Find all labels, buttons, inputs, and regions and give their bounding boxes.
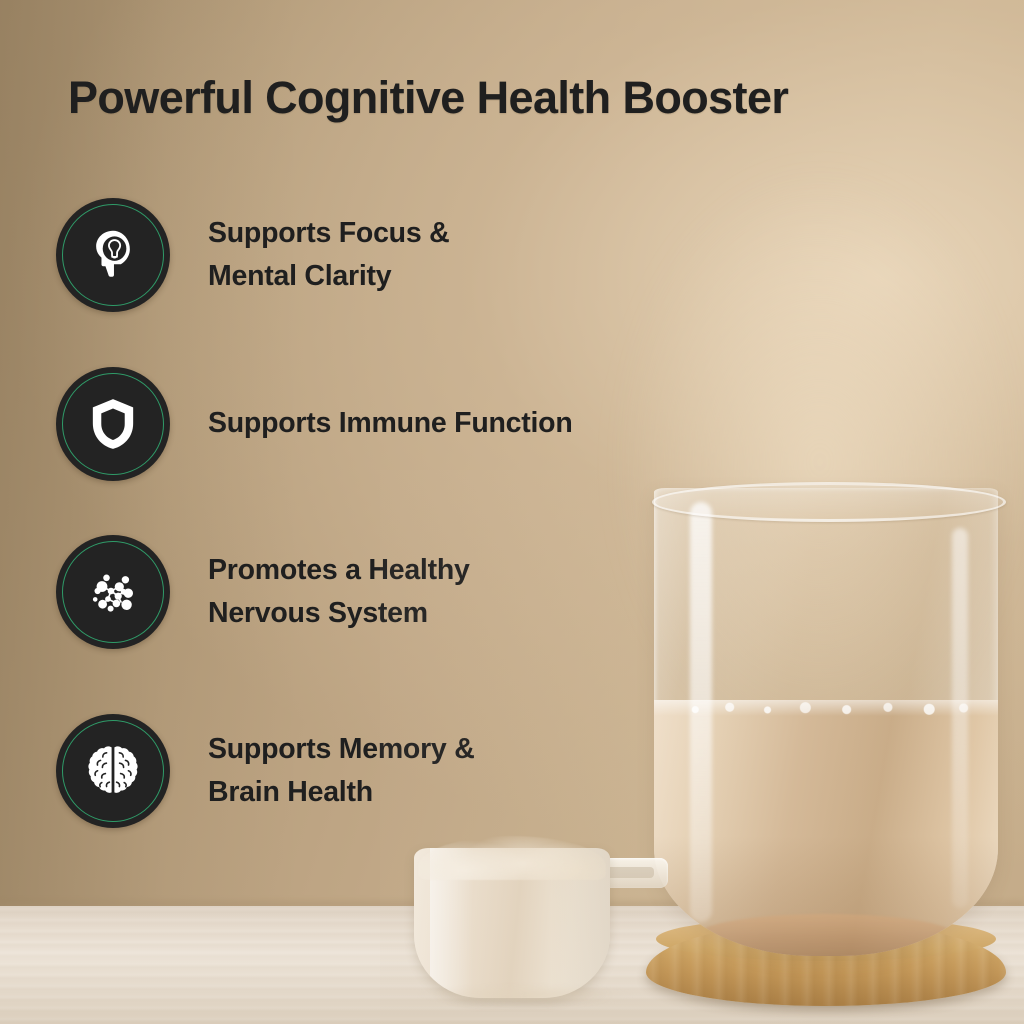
glass-highlight-left xyxy=(690,502,712,922)
page-title: Powerful Cognitive Health Booster xyxy=(68,74,978,123)
head-lightbulb-icon xyxy=(82,224,144,286)
spilled-powder-dust xyxy=(400,986,650,1008)
brain-icon xyxy=(81,739,145,803)
benefit-item-nervous-system: Promotes a Healthy Nervous System xyxy=(56,535,470,649)
product-benefits-graphic: Powerful Cognitive Health Booster Suppor… xyxy=(0,0,1024,1024)
shield-icon xyxy=(83,394,143,454)
benefit-item-focus: Supports Focus & Mental Clarity xyxy=(56,198,449,312)
powder-heap xyxy=(418,836,606,880)
benefit-item-memory: Supports Memory & Brain Health xyxy=(56,714,475,828)
benefit-label: Supports Focus & Mental Clarity xyxy=(208,212,449,299)
benefit-label: Promotes a Healthy Nervous System xyxy=(208,549,470,636)
shake-glass xyxy=(654,488,998,956)
glass-highlight-right xyxy=(952,528,968,908)
benefit-label: Supports Immune Function xyxy=(208,402,573,445)
glass-body xyxy=(654,488,998,956)
benefit-item-immune: Supports Immune Function xyxy=(56,367,573,481)
benefit-icon-badge xyxy=(56,535,170,649)
powder-scoop xyxy=(414,836,624,1008)
glass-base-reflection xyxy=(694,914,958,956)
benefit-label: Supports Memory & Brain Health xyxy=(208,728,475,815)
benefit-icon-badge xyxy=(56,367,170,481)
glass-rim xyxy=(652,482,1006,522)
molecule-network-icon xyxy=(81,560,145,624)
benefit-icon-badge xyxy=(56,714,170,828)
benefit-icon-badge xyxy=(56,198,170,312)
